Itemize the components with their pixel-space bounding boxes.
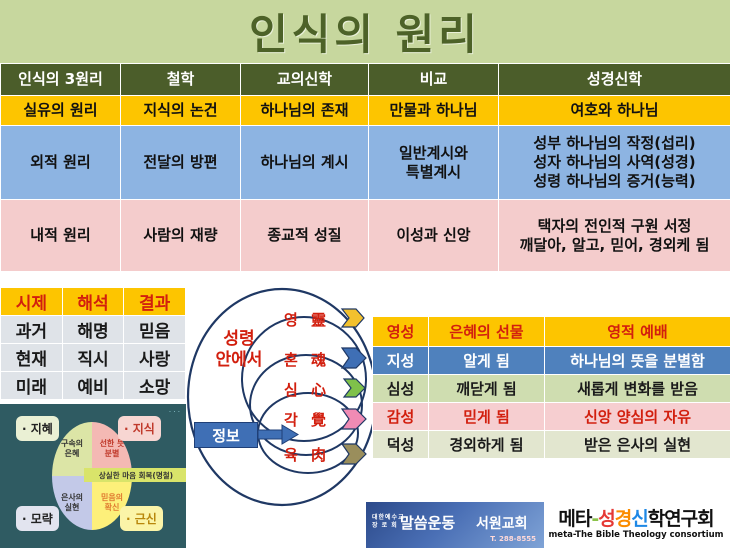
meta-logo-subtitle: meta-The Bible Theology consortium [548,530,724,540]
soul-word-awareness: 각 覺 [284,409,330,430]
church-phone-label: T. 288-8555 [490,535,536,543]
virtue-r4c0: 덕성 [373,431,429,459]
cell-r1c1: 전달의 방편 [121,126,241,200]
virtue-r1c2: 하나님의 뜻을 분별함 [545,347,730,375]
church-logo: 대한예수교 장 로 회 말씀운동 서원교회 T. 288-8555 [366,502,544,548]
virtue-r0c1: 은혜의 선물 [429,317,545,347]
cell-r0c0: 실유의 원리 [1,96,121,126]
cell-r0c4: 여호와 하나님 [499,96,730,126]
virtue-r1c0: 지성 [373,347,429,375]
col-header-3: 비교 [369,64,499,96]
soul-word-spirit: 영 靈 [284,309,330,330]
virtue-r0c0: 영성 [373,317,429,347]
virtue-r3c0: 감성 [373,403,429,431]
tense-r1c0: 현재 [1,344,63,372]
table-row: 미래 예비 소망 [1,372,186,400]
slide-root: 인식의 원리 인식의 3원리 철학 교의신학 비교 성경신학 실유의 원리 지식… [0,0,730,548]
tense-header-2: 결과 [124,288,186,316]
virtue-r4c1: 경외하게 됨 [429,431,545,459]
table-row: 실유의 원리 지식의 논건 하나님의 존재 만물과 하나님 여호와 하나님 [1,96,730,126]
tense-header-row: 시제 해석 결과 [1,288,186,316]
cell-r2c4: 택자의 전인적 구원 서정 깨달아, 알고, 믿어, 경외케 됨 [499,200,730,272]
tense-r2c2: 소망 [124,372,186,400]
principles-table: 인식의 3원리 철학 교의신학 비교 성경신학 실유의 원리 지식의 논건 하나… [0,63,730,272]
table-row: 내적 원리 사람의 재량 종교적 성질 이성과 신앙 택자의 전인적 구원 서정… [1,200,730,272]
page-title: 인식의 원리 [249,1,481,62]
output-arrow-body [342,444,366,464]
cell-r2c1: 사람의 재량 [121,200,241,272]
table-row: 과거 해명 믿음 [1,316,186,344]
oval-rings-svg [186,287,372,515]
virtues-table: 영성 은혜의 선물 영적 예배 지성 알게 됨 하나님의 뜻을 분별함 심성 깨… [372,316,730,459]
cell-r1c2: 하나님의 계시 [241,126,369,200]
church-name-label: 서원교회 [476,513,528,533]
table-row: 영성 은혜의 선물 영적 예배 [373,317,730,347]
table-row: 심성 깨닫게 됨 새롭게 변화를 받음 [373,375,730,403]
cell-r0c1: 지식의 논건 [121,96,241,126]
soul-word-heart: 심 心 [284,379,330,400]
cell-r1c0: 외적 원리 [1,126,121,200]
meta-part-2: 성 [598,508,614,530]
table-row: 외적 원리 전달의 방편 하나님의 계시 일반계시와 특별계시 성부 하나님의 … [1,126,730,200]
spirit-oval-diagram: 성령 안에서 정보 영 靈 혼 魂 심 心 각 覺 육 肉 [186,287,372,515]
cell-r0c3: 만물과 하나님 [369,96,499,126]
meta-logo-title: 메타-성경신학연구회 [548,504,724,531]
table-row: 덕성 경외하게 됨 받은 은사의 실현 [373,431,730,459]
virtue-r0c2: 영적 예배 [545,317,730,347]
soul-word-body: 육 肉 [284,444,330,465]
table-row: 현재 직시 사랑 [1,344,186,372]
meta-part-4: 신 [631,508,647,530]
tense-r2c0: 미래 [1,372,63,400]
pie-corner-label-wisdom: · 지혜 [16,416,59,441]
tense-r2c1: 예비 [62,372,124,400]
virtue-r2c2: 새롭게 변화를 받음 [545,375,730,403]
pie-corner-label-prudence: · 근신 [120,506,163,531]
soul-word-soul: 혼 魂 [284,349,330,370]
col-header-4: 성경신학 [499,64,730,96]
virtue-r3c2: 신앙 양심의 자유 [545,403,730,431]
virtue-r2c0: 심성 [373,375,429,403]
col-header-0: 인식의 3원리 [1,64,121,96]
cell-r1c3: 일반계시와 특별계시 [369,126,499,200]
cell-r0c2: 하나님의 존재 [241,96,369,126]
table-header-row: 인식의 3원리 철학 교의신학 비교 성경신학 [1,64,730,96]
tense-r0c0: 과거 [1,316,63,344]
slide-title-bar: 인식의 원리 [0,0,730,63]
table-row: 지성 알게 됨 하나님의 뜻을 분별함 [373,347,730,375]
meta-consortium-logo: 메타-성경신학연구회 meta-The Bible Theology conso… [548,502,724,548]
tense-r1c2: 사랑 [124,344,186,372]
tense-header-1: 해석 [62,288,124,316]
info-input-box: 정보 [194,422,258,448]
meta-part-0: 메타 [558,508,591,530]
output-arrow-soul [342,348,366,368]
virtue-r2c1: 깨닫게 됨 [429,375,545,403]
holy-spirit-label: 성령 안에서 [196,329,282,372]
col-header-1: 철학 [121,64,241,96]
meta-part-3: 경 [615,508,631,530]
cell-r1c4: 성부 하나님의 작정(섭리) 성자 하나님의 사역(성경) 성령 하나님의 증거… [499,126,730,200]
pie-corner-label-counsel: · 모략 [16,506,59,531]
pie-banner-label: 상실한 마음 회복(명철) [84,468,186,482]
virtue-r3c1: 믿게 됨 [429,403,545,431]
virtue-r1c1: 알게 됨 [429,347,545,375]
virtue-r4c2: 받은 은사의 실현 [545,431,730,459]
tense-table: 시제 해석 결과 과거 해명 믿음 현재 직시 사랑 미래 예비 소망 [0,287,186,400]
virtues-pie-graphic: · · · 구속의 은혜 선한 뜻 분별 은사의 실현 믿음의 확신 · 지혜 … [0,404,186,548]
output-arrow-heart [344,379,365,397]
decorative-dots: · · · [169,408,180,416]
col-header-2: 교의신학 [241,64,369,96]
cell-r2c0: 내적 원리 [1,200,121,272]
meta-part-5: 학연구회 [648,508,714,530]
tense-r1c1: 직시 [62,344,124,372]
cell-r2c3: 이성과 신앙 [369,200,499,272]
church-movement-label: 말씀운동 [400,512,455,533]
cell-r2c2: 종교적 성질 [241,200,369,272]
tense-header-0: 시제 [1,288,63,316]
tense-r0c1: 해명 [62,316,124,344]
tense-r0c2: 믿음 [124,316,186,344]
pie-corner-label-knowledge: · 지식 [118,416,161,441]
table-row: 감성 믿게 됨 신앙 양심의 자유 [373,403,730,431]
